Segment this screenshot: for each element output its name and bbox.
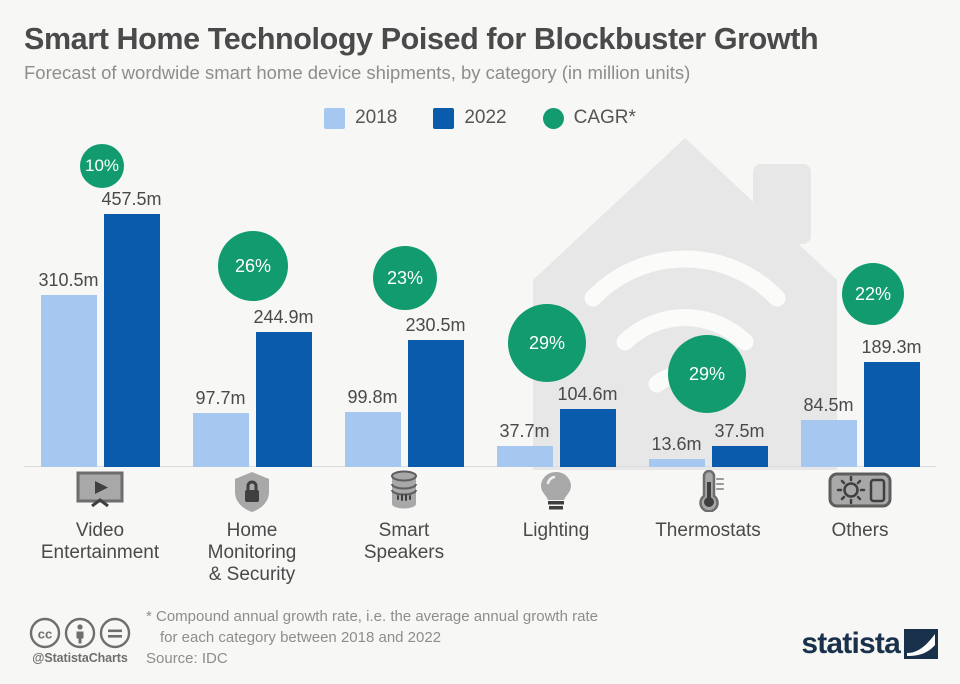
- cagr-bubble-thermostats: 29%: [668, 335, 746, 413]
- bar-group-lighting: 29% 37.7m 104.6m: [480, 132, 632, 467]
- bar-2022-lighting[interactable]: [560, 409, 616, 467]
- bar-group-video-entertainment: 10% 310.5m 457.5m: [24, 132, 176, 467]
- statista-handle[interactable]: @StatistaCharts: [24, 651, 136, 665]
- legend-label-2018: 2018: [355, 107, 397, 129]
- bar-chart-plot: 10% 310.5m 457.5m 26% 97.7m: [24, 132, 936, 467]
- bar-2018-video-entertainment[interactable]: [41, 295, 97, 467]
- bar-2018-home-monitoring-security[interactable]: [193, 413, 249, 467]
- bar-value-2022-video-entertainment: 457.5m: [101, 189, 161, 210]
- bar-2018-smart-speakers[interactable]: [345, 412, 401, 467]
- bar-2022-smart-speakers[interactable]: [408, 340, 464, 467]
- bar-value-2018-home-monitoring-security: 97.7m: [195, 388, 245, 409]
- cc-nd-icon: [99, 617, 131, 649]
- bar-value-2022-thermostats: 37.5m: [714, 421, 764, 442]
- cc-by-icon: [64, 617, 96, 649]
- statista-wordmark: statista: [801, 629, 900, 659]
- legend-swatch-cagr: [543, 108, 564, 129]
- legend-label-cagr: CAGR*: [574, 107, 636, 129]
- bar-value-2018-smart-speakers: 99.8m: [347, 387, 397, 408]
- legend-label-2022: 2022: [464, 107, 506, 129]
- bar-2018-others[interactable]: [801, 420, 857, 467]
- bar-group-others: 22% 84.5m 189.3m: [784, 132, 936, 467]
- bar-2022-video-entertainment[interactable]: [104, 214, 160, 467]
- bar-value-2018-lighting: 37.7m: [499, 421, 549, 442]
- creative-commons-block: cc @StatistaCharts: [24, 617, 136, 665]
- bar-wrap-2022-thermostats: 37.5m: [712, 446, 768, 467]
- bar-wrap-2022-video-entertainment: 457.5m: [104, 214, 160, 467]
- bar-2018-thermostats[interactable]: [649, 459, 705, 467]
- category-label-smart-speakers: Smart Speakers: [328, 520, 480, 564]
- chart-subtitle: Forecast of wordwide smart home device s…: [24, 62, 936, 84]
- category-label-video-entertainment: Video Entertainment: [24, 520, 176, 564]
- category-others[interactable]: Others: [784, 470, 936, 542]
- footnote-line-2: for each category between 2018 and 2022: [146, 627, 706, 648]
- bar-value-2022-home-monitoring-security: 244.9m: [253, 307, 313, 328]
- cagr-bubble-lighting: 29%: [508, 304, 586, 382]
- legend-item-cagr[interactable]: CAGR*: [543, 107, 636, 129]
- thermometer-icon: [632, 470, 784, 514]
- category-thermostats[interactable]: Thermostats: [632, 470, 784, 542]
- statista-logo[interactable]: statista: [801, 628, 938, 660]
- source-note: Source: IDC: [146, 650, 228, 667]
- bar-2018-lighting[interactable]: [497, 446, 553, 467]
- category-video-entertainment[interactable]: Video Entertainment: [24, 470, 176, 564]
- cagr-bubble-smart-speakers: 23%: [373, 246, 437, 310]
- footnote-line-1: * Compound annual growth rate, i.e. the …: [146, 608, 598, 625]
- bar-wrap-2018-others: 84.5m: [801, 420, 857, 467]
- statista-logo-mark: [904, 628, 938, 660]
- bar-value-2018-others: 84.5m: [803, 395, 853, 416]
- control-panel-icon: [784, 470, 936, 514]
- footnote: * Compound annual growth rate, i.e. the …: [146, 606, 706, 649]
- bar-wrap-2018-video-entertainment: 310.5m: [41, 295, 97, 467]
- category-smart-speakers[interactable]: Smart Speakers: [328, 470, 480, 564]
- bar-wrap-2022-lighting: 104.6m: [560, 409, 616, 467]
- bar-group-smart-speakers: 23% 99.8m 230.5m: [328, 132, 480, 467]
- bar-2022-thermostats[interactable]: [712, 446, 768, 467]
- lightbulb-icon: [480, 470, 632, 514]
- bar-group-home-monitoring-security: 26% 97.7m 244.9m: [176, 132, 328, 467]
- tv-play-icon: [24, 470, 176, 514]
- bar-value-2022-lighting: 104.6m: [557, 384, 617, 405]
- legend-item-2022[interactable]: 2022: [433, 107, 506, 129]
- category-axis: Video Entertainment Home Monitoring & Se…: [24, 470, 936, 590]
- cc-icon-row: cc: [24, 617, 136, 649]
- category-label-others: Others: [784, 520, 936, 542]
- bar-wrap-2018-thermostats: 13.6m: [649, 459, 705, 467]
- shield-lock-icon: [176, 470, 328, 514]
- smart-speaker-icon: [328, 470, 480, 514]
- bar-group-thermostats: 29% 13.6m 37.5m: [632, 132, 784, 467]
- cc-icon: cc: [29, 617, 61, 649]
- category-label-home-monitoring-security: Home Monitoring & Security: [176, 520, 328, 587]
- bar-wrap-2018-lighting: 37.7m: [497, 446, 553, 467]
- bar-wrap-2022-smart-speakers: 230.5m: [408, 340, 464, 467]
- bar-wrap-2022-others: 189.3m: [864, 362, 920, 467]
- bar-wrap-2022-home-monitoring-security: 244.9m: [256, 332, 312, 467]
- bar-2022-others[interactable]: [864, 362, 920, 467]
- bars-lighting: 37.7m 104.6m: [480, 132, 632, 467]
- bar-2022-home-monitoring-security[interactable]: [256, 332, 312, 467]
- header: Smart Home Technology Poised for Blockbu…: [24, 22, 936, 84]
- bar-value-2022-smart-speakers: 230.5m: [405, 315, 465, 336]
- category-lighting[interactable]: Lighting: [480, 470, 632, 542]
- bar-value-2018-video-entertainment: 310.5m: [38, 270, 98, 291]
- bar-value-2018-thermostats: 13.6m: [651, 434, 701, 455]
- legend-swatch-2018: [324, 108, 345, 129]
- category-label-thermostats: Thermostats: [632, 520, 784, 542]
- statista-infographic: Smart Home Technology Poised for Blockbu…: [0, 0, 960, 684]
- svg-text:cc: cc: [38, 627, 52, 642]
- cagr-bubble-video-entertainment: 10%: [80, 144, 124, 188]
- legend-swatch-2022: [433, 108, 454, 129]
- bar-wrap-2018-smart-speakers: 99.8m: [345, 412, 401, 467]
- bar-value-2022-others: 189.3m: [861, 337, 921, 358]
- bars-thermostats: 13.6m 37.5m: [632, 132, 784, 467]
- chart-legend: 2018 2022 CAGR*: [0, 107, 960, 129]
- bar-wrap-2018-home-monitoring-security: 97.7m: [193, 413, 249, 467]
- cagr-bubble-others: 22%: [842, 263, 904, 325]
- cagr-bubble-home-monitoring-security: 26%: [218, 231, 288, 301]
- page-title: Smart Home Technology Poised for Blockbu…: [24, 22, 936, 56]
- legend-item-2018[interactable]: 2018: [324, 107, 397, 129]
- category-label-lighting: Lighting: [480, 520, 632, 542]
- category-home-monitoring-security[interactable]: Home Monitoring & Security: [176, 470, 328, 587]
